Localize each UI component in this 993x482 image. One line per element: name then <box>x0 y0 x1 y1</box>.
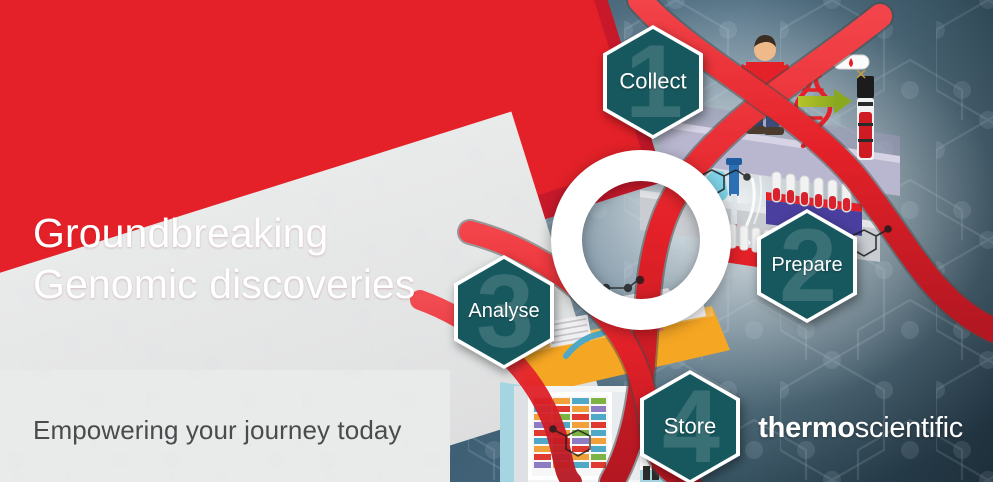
step-label: Collect <box>603 68 703 94</box>
headline-line-2: Genomic discoveries <box>33 259 513 310</box>
logo-thermo-text: thermo <box>758 412 855 444</box>
workflow-step-prepare[interactable]: 2 Prepare <box>757 209 857 323</box>
workflow-step-analyse[interactable]: 3 Analyse <box>454 255 554 369</box>
step-label: Store <box>640 413 740 439</box>
workflow-step-collect[interactable]: 1 Collect <box>603 25 703 139</box>
logo-scientific-text: scientific <box>855 412 963 444</box>
step-label: Prepare <box>757 254 857 277</box>
center-ring-graphic <box>551 150 731 330</box>
thermo-scientific-logo: thermoscientific <box>758 412 963 445</box>
workflow-step-store[interactable]: 4 Store <box>640 370 740 482</box>
promo-banner: Groundbreaking Genomic discoveries Empow… <box>0 0 993 482</box>
step-label: Analyse <box>454 300 554 323</box>
tagline: Empowering your journey today <box>33 415 402 446</box>
page-title: Groundbreaking Genomic discoveries <box>33 208 513 310</box>
headline-line-1: Groundbreaking <box>33 208 513 259</box>
